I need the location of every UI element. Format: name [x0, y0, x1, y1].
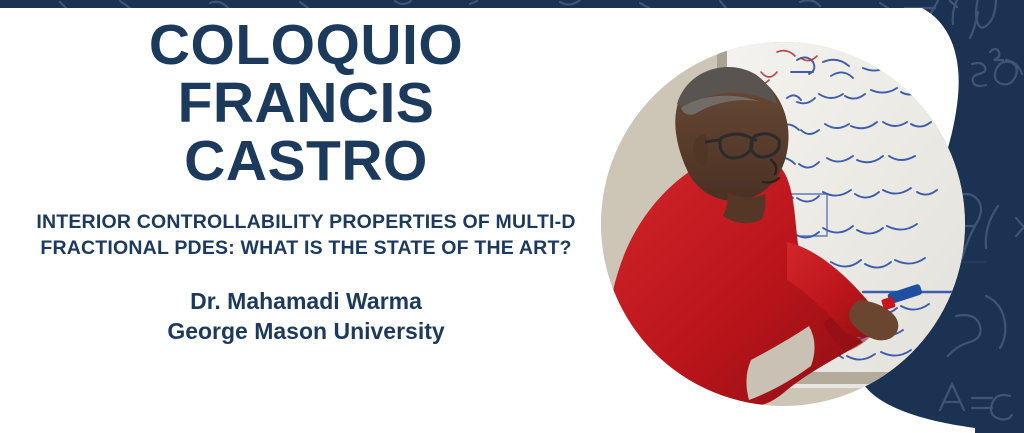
- speaker-photo: [601, 42, 965, 406]
- speaker-info: Dr. Mahamadi Warma George Mason Universi…: [26, 287, 586, 346]
- colloquium-poster: COLOQUIO FRANCIS CASTRO INTERIOR CONTROL…: [0, 0, 1024, 433]
- title-line-2: FRANCIS: [0, 74, 612, 132]
- title-line-3: CASTRO: [0, 132, 612, 190]
- poster-text-block: COLOQUIO FRANCIS CASTRO INTERIOR CONTROL…: [0, 8, 612, 433]
- speaker-affiliation: George Mason University: [26, 317, 586, 346]
- page-title: COLOQUIO FRANCIS CASTRO: [0, 16, 612, 190]
- speaker-name: Dr. Mahamadi Warma: [26, 287, 586, 316]
- talk-subtitle: INTERIOR CONTROLLABILITY PROPERTIES OF M…: [26, 210, 586, 261]
- title-line-1: COLOQUIO: [0, 16, 612, 74]
